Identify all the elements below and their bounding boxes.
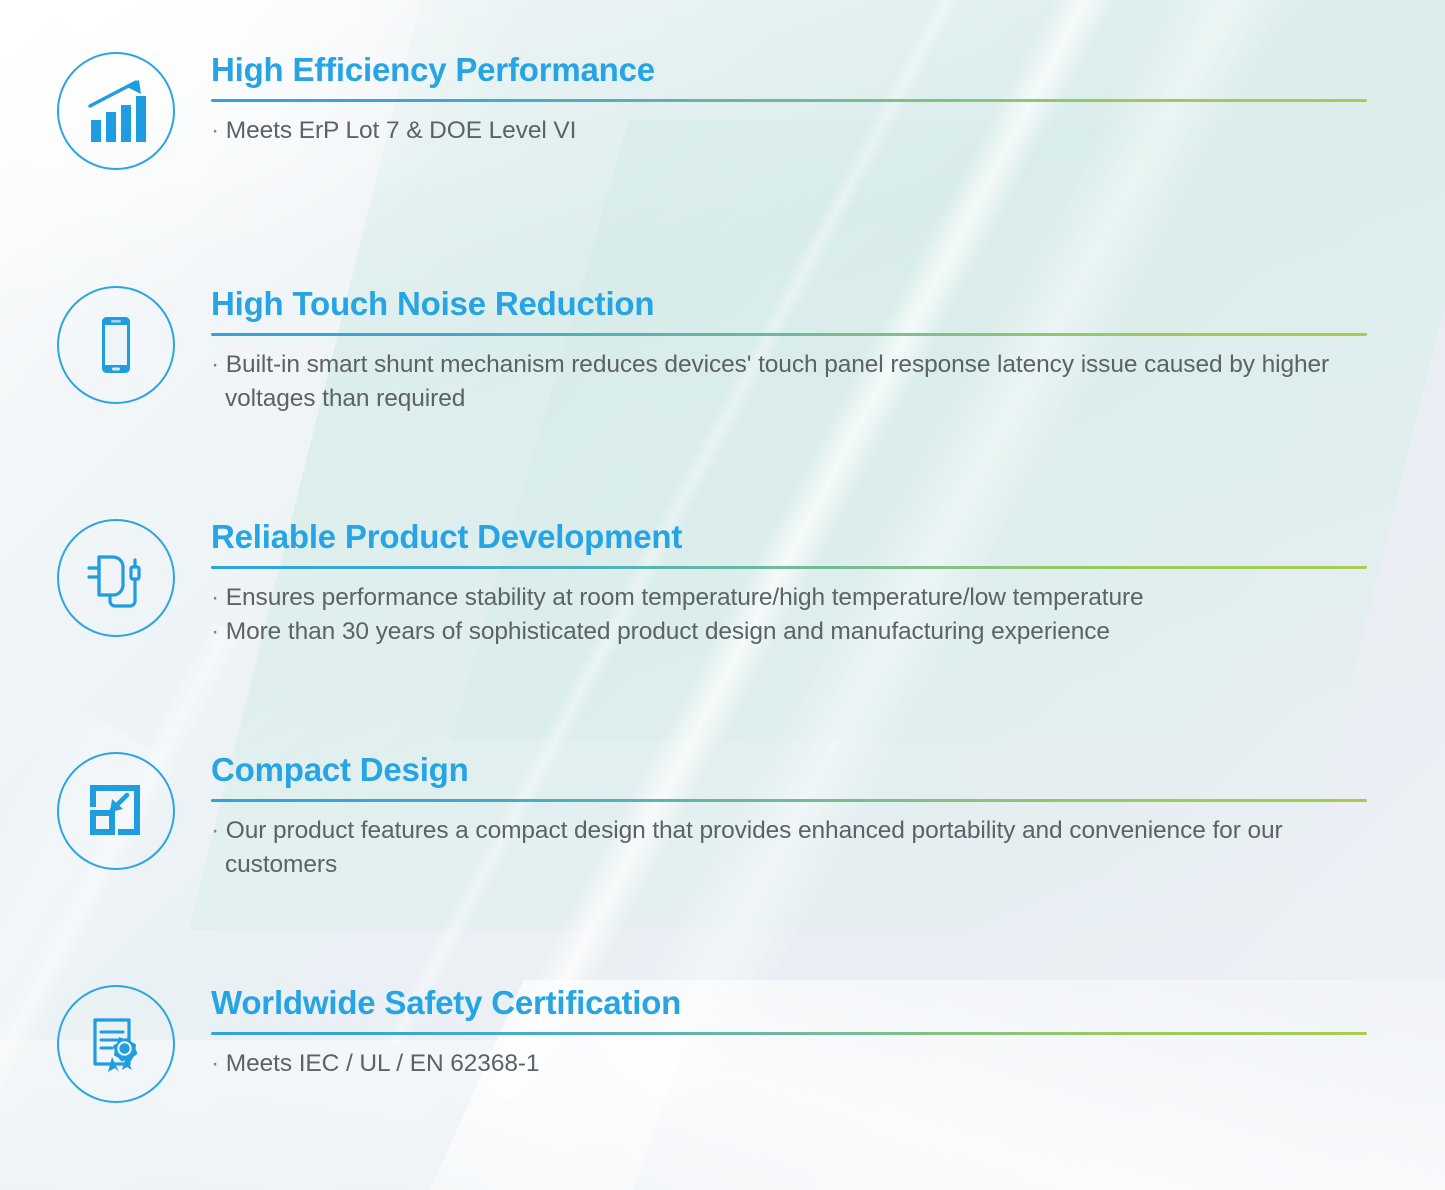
bar-chart-growth-icon [57,52,175,170]
feature-title: Compact Design [211,752,1367,788]
feature-bullet: · Built-in smart shunt mechanism reduces… [211,348,1367,418]
power-adapter-icon [57,519,175,637]
feature-bullet: · More than 30 years of sophisticated pr… [211,615,1367,650]
feature-bullet-list: · Built-in smart shunt mechanism reduces… [211,348,1367,418]
feature-bullet-list: · Meets ErP Lot 7 & DOE Level VI [211,114,1367,149]
feature-title: High Touch Noise Reduction [211,286,1367,322]
bullet-marker: · [211,817,219,844]
feature-divider [211,99,1367,102]
feature-bullet-list: · Meets IEC / UL / EN 62368-1 [211,1047,1367,1082]
bullet-marker: · [211,584,219,611]
feature-content: High Touch Noise Reduction · Built-in sm… [211,286,1445,417]
feature-bullet-list: · Ensures performance stability at room … [211,581,1367,651]
feature-content: High Efficiency Performance · Meets ErP … [211,52,1445,148]
feature-bullet-list: · Our product features a compact design … [211,814,1367,884]
feature-icon-container [53,286,179,404]
feature-item-high-efficiency-performance: High Efficiency Performance · Meets ErP … [0,52,1445,170]
bullet-marker: · [211,351,219,378]
feature-bullet: · Meets ErP Lot 7 & DOE Level VI [211,114,1367,149]
bullet-marker: · [211,117,219,144]
feature-item-compact-design: Compact Design · Our product features a … [0,752,1445,883]
feature-bullet: · Meets IEC / UL / EN 62368-1 [211,1047,1367,1082]
feature-item-worldwide-safety-certification: Worldwide Safety Certification · Meets I… [0,985,1445,1103]
feature-content: Reliable Product Development · Ensures p… [211,519,1445,650]
feature-item-high-touch-noise-reduction: High Touch Noise Reduction · Built-in sm… [0,286,1445,417]
bullet-text: Meets ErP Lot 7 & DOE Level VI [226,117,577,144]
bullet-text: More than 30 years of sophisticated prod… [226,618,1110,645]
feature-icon-container [53,52,179,170]
feature-item-reliable-product-development: Reliable Product Development · Ensures p… [0,519,1445,650]
bullet-marker: · [211,1050,219,1077]
bullet-text: Our product features a compact design th… [225,817,1283,879]
certificate-award-icon [57,985,175,1103]
feature-icon-container [53,752,179,870]
feature-title: Reliable Product Development [211,519,1367,555]
bullet-text: Meets IEC / UL / EN 62368-1 [226,1050,540,1077]
feature-divider [211,333,1367,336]
feature-divider [211,1032,1367,1035]
feature-content: Worldwide Safety Certification · Meets I… [211,985,1445,1081]
bullet-text: Ensures performance stability at room te… [226,584,1144,611]
feature-bullet: · Our product features a compact design … [211,814,1367,884]
feature-icon-container [53,985,179,1103]
bullet-text: Built-in smart shunt mechanism reduces d… [225,351,1329,413]
compress-arrow-icon [57,752,175,870]
feature-divider [211,566,1367,569]
feature-highlights-page: High Efficiency Performance · Meets ErP … [0,0,1445,1190]
feature-divider [211,799,1367,802]
feature-content: Compact Design · Our product features a … [211,752,1445,883]
feature-bullet: · Ensures performance stability at room … [211,581,1367,616]
background-streak [0,620,245,1190]
feature-title: High Efficiency Performance [211,52,1367,88]
feature-title: Worldwide Safety Certification [211,985,1367,1021]
feature-icon-container [53,519,179,637]
smartphone-icon [57,286,175,404]
bullet-marker: · [211,618,219,645]
